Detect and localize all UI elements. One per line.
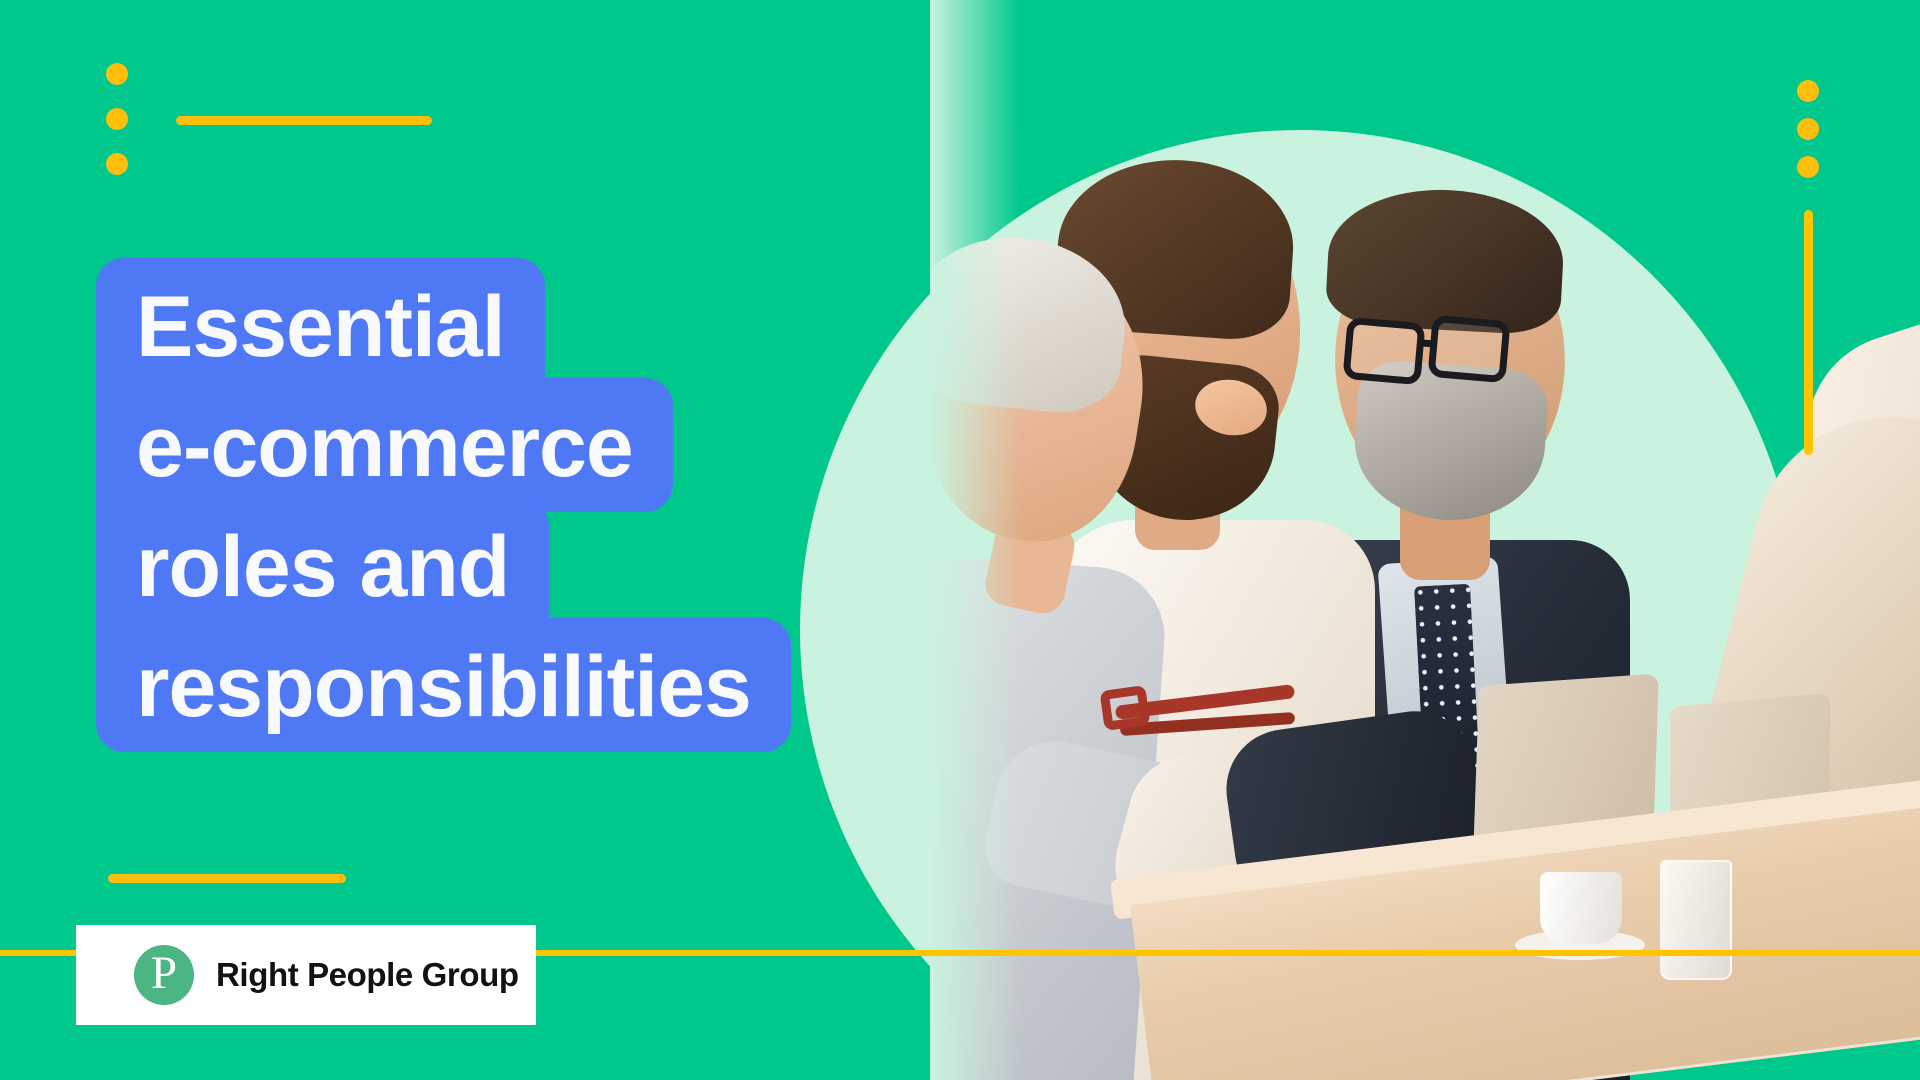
title-line-4: responsibilities — [96, 618, 791, 752]
right-people-group-logo-icon: P — [134, 945, 194, 1005]
decor-dot-top-left-2 — [106, 108, 128, 130]
person-3-eyeglasses-right-lens — [1427, 315, 1510, 384]
water-glass — [1660, 860, 1732, 980]
decor-dot-top-left-1 — [106, 63, 128, 85]
hero-photo — [930, 0, 1920, 1080]
coffee-cup — [1540, 872, 1622, 944]
brand-wordmark: Right People Group — [216, 956, 519, 994]
red-eyeglasses-lens — [1099, 685, 1150, 731]
person-3-eyeglasses-left-lens — [1342, 317, 1425, 386]
decor-bar-bottom-left — [108, 874, 346, 883]
banner-canvas: Essential e-commerce roles and responsib… — [0, 0, 1920, 1080]
logo-monogram-letter: P — [151, 950, 177, 997]
decor-dot-top-left-3 — [106, 153, 128, 175]
title-line-3: roles and — [96, 498, 549, 632]
decor-dot-top-right-3 — [1797, 156, 1819, 178]
decor-bar-right-vertical — [1804, 210, 1813, 455]
person-3-beard — [1350, 359, 1550, 527]
hero-photo-scene — [930, 0, 1920, 1080]
person-3-hair — [1324, 184, 1566, 336]
person-3-eyeglasses-bridge — [1419, 339, 1438, 348]
decor-bar-top-left — [176, 116, 432, 125]
decor-dot-top-right-2 — [1797, 118, 1819, 140]
brand-logo-lockup[interactable]: P Right People Group — [76, 925, 536, 1025]
photo-left-fade — [930, 0, 1020, 1080]
title-line-2: e-commerce — [96, 378, 673, 512]
page-title: Essential e-commerce roles and responsib… — [96, 258, 791, 752]
decor-dot-top-right-1 — [1797, 80, 1819, 102]
title-line-1: Essential — [96, 258, 545, 392]
